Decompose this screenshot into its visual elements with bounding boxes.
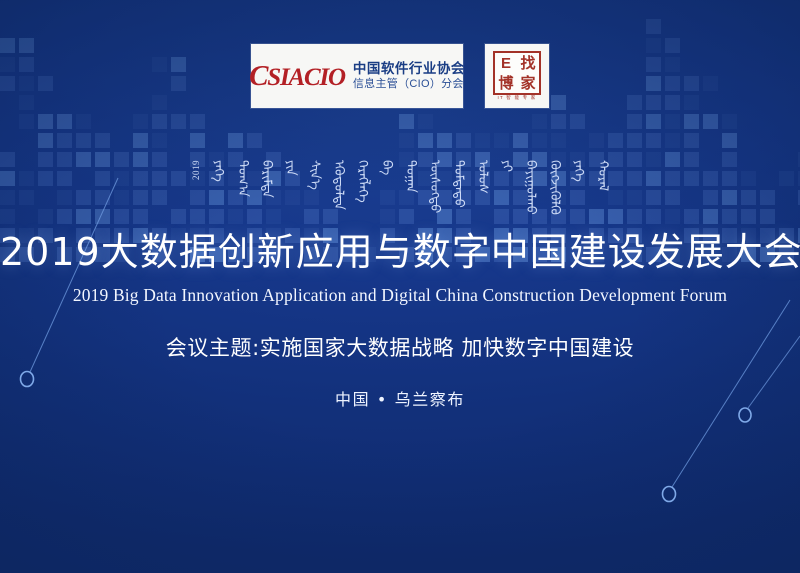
- e-expert-char-3: 博: [495, 73, 517, 93]
- logo-row: CSIACIO 中国软件行业协会 信息主管（CIO）分会 E 找 博 家 IT …: [0, 44, 800, 108]
- mongolian-glyph: ᠪᠠᠷᠢᠮᠲᠠ: [260, 160, 273, 198]
- csia-branch-name: 信息主管（CIO）分会: [353, 78, 465, 90]
- logo-csia: CSIACIO 中国软件行业协会 信息主管（CIO）分会: [251, 44, 463, 108]
- mongolian-glyph: ᠰᠢᠨ᠎ᠡ: [308, 160, 321, 190]
- mongolian-glyph: ᠡᠭᠦᠳᠦᠯᠲᠡ: [332, 160, 345, 210]
- mongolian-glyph: ᠶᠢᠨ: [284, 160, 297, 176]
- page-title-english: 2019 Big Data Innovation Application and…: [0, 287, 800, 305]
- mongolian-glyph: ᠳᠤᠮᠳᠠᠳᠤ: [452, 160, 465, 208]
- mongolian-glyph: ᠶᠡᠬᠡ: [572, 160, 585, 182]
- e-expert-char-4: 家: [517, 73, 539, 93]
- csia-wordmark-first: C: [249, 60, 267, 92]
- mongolian-glyph: ᠪᠠ: [380, 160, 393, 175]
- mongolian-glyph: ᠬᠡᠷᠡᠭᠯᠡᠭᠡ: [356, 160, 369, 203]
- mongolian-glyph: ᠲᠣᠭ᠎ᠠ: [236, 160, 249, 197]
- csia-text-block: 中国软件行业协会 信息主管（CIO）分会: [353, 62, 465, 91]
- mongolian-glyph: ᠦᠰᠦᠭᠲᠦ: [428, 160, 441, 213]
- e-expert-char-1: E: [495, 53, 517, 73]
- logo-e-expert: E 找 博 家 IT 智 能 专 家: [485, 44, 549, 108]
- e-expert-glyph-box: E 找 博 家: [493, 51, 541, 95]
- csia-wordmark: CSIACIO: [249, 62, 345, 91]
- page-title-chinese: 2019大数据创新应用与数字中国建设发展大会: [0, 233, 800, 271]
- csia-association-name: 中国软件行业协会: [353, 62, 465, 77]
- mongolian-script-line: 2019 ᠶᠡᠬᠡᠲᠣᠭ᠎ᠠᠪᠠᠷᠢᠮᠲᠠᠶᠢᠨᠰᠢᠨ᠎ᠡᠡᠭᠦᠳᠦᠯᠲᠡᠬᠡᠷ…: [0, 160, 800, 208]
- mongolian-glyph: ᠬᠤᠷᠠᠯ: [596, 160, 609, 191]
- e-expert-char-2: 找: [517, 53, 539, 73]
- conference-poster: CSIACIO 中国软件行业协会 信息主管（CIO）分会 E 找 博 家 IT …: [0, 0, 800, 573]
- mongolian-glyph: ᠶᠡᠬᠡ: [212, 160, 225, 182]
- mongolian-glyph: ᠬᠥᠭᠵᠢᠭᠦᠯᠬᠦ: [548, 160, 561, 215]
- mongolian-glyph: ᠶᠢ: [500, 160, 513, 172]
- conference-location: 中国 • 乌兰察布: [0, 392, 800, 408]
- csia-wordmark-rest: SIACIO: [267, 64, 345, 91]
- mongolian-glyph: ᠪᠠᠶᠢᠭᠤᠯᠬᠤ: [524, 160, 537, 215]
- e-expert-subtitle: IT 智 能 专 家: [498, 96, 537, 101]
- mongolian-glyph: ᠤᠯᠤᠰ: [476, 160, 489, 194]
- mongolian-year: 2019: [191, 160, 201, 180]
- mongolian-glyph: ᠲᠤᠭᠠᠨ: [404, 160, 417, 193]
- conference-theme: 会议主题:实施国家大数据战略 加快数字中国建设: [0, 338, 800, 359]
